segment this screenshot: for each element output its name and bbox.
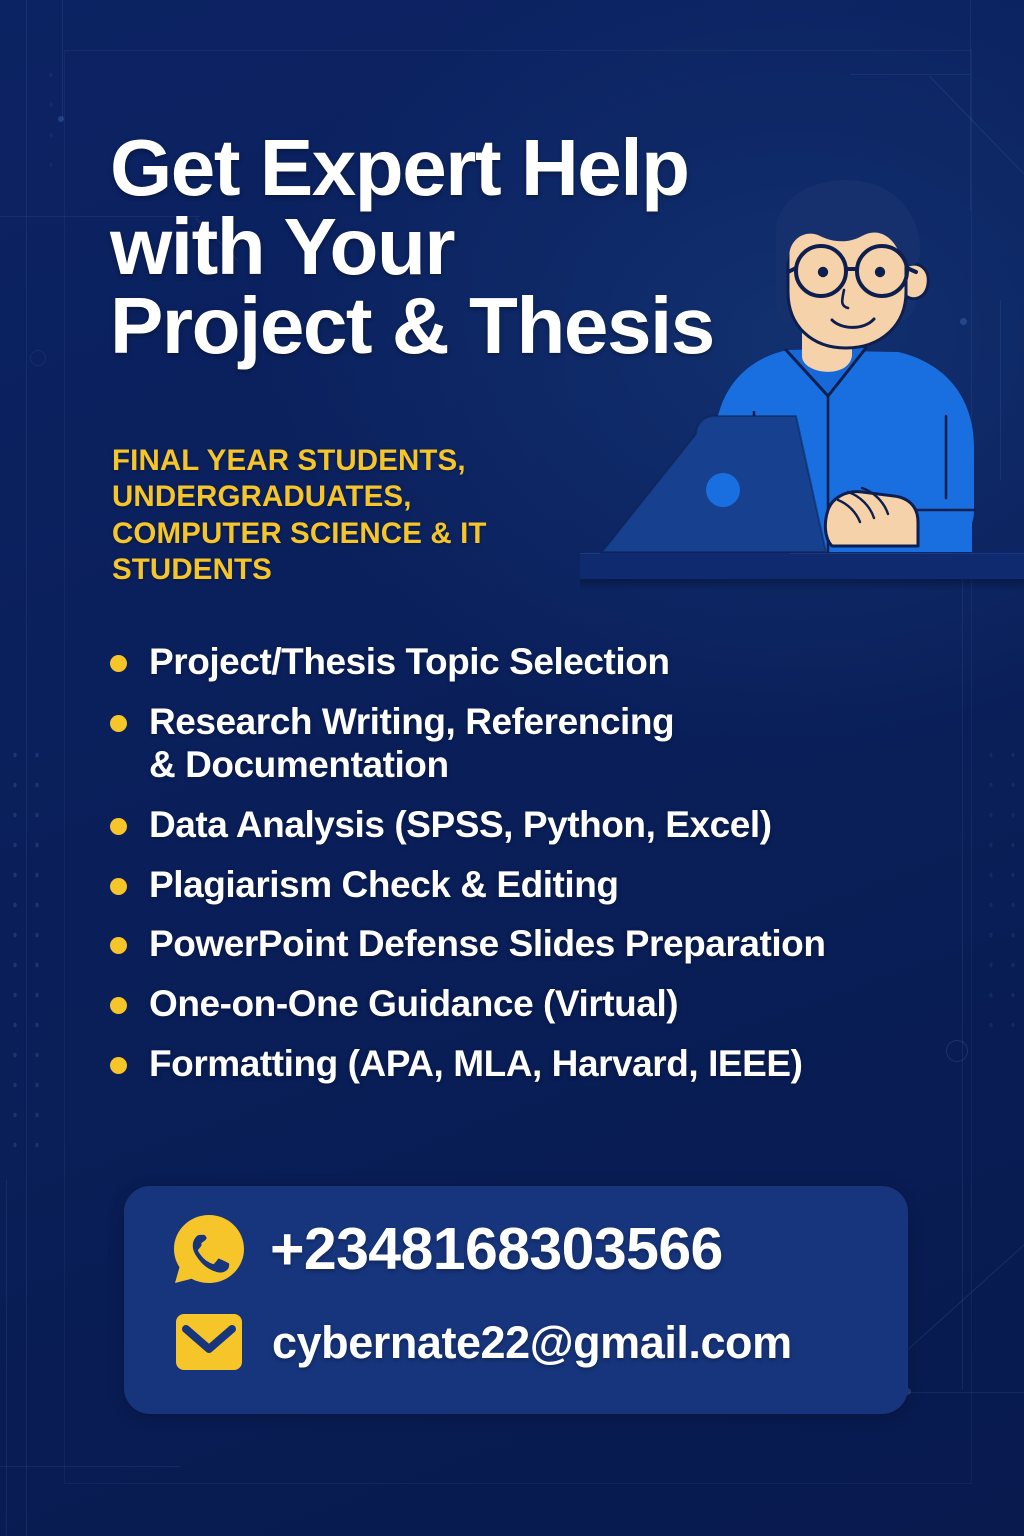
circuit-vline-bottomleft: [6, 1180, 7, 1536]
service-label: PowerPoint Defense Slides Preparation: [149, 922, 826, 966]
email-address[interactable]: cybernate22@gmail.com: [272, 1320, 792, 1365]
service-label: Formatting (APA, MLA, Harvard, IEEE): [149, 1042, 803, 1086]
bullet-dot-icon: [110, 997, 127, 1014]
circuit-vline-left2: [62, 0, 63, 120]
list-item: Research Writing, Referencing & Document…: [110, 700, 955, 787]
list-item: Project/Thesis Topic Selection: [110, 640, 955, 684]
bullet-dot-icon: [110, 655, 127, 672]
circuit-vline-left: [26, 0, 27, 1536]
service-label: Research Writing, Referencing & Document…: [149, 700, 674, 787]
services-list: Project/Thesis Topic Selection Research …: [110, 640, 955, 1101]
service-label: Plagiarism Check & Editing: [149, 863, 619, 907]
list-item: Data Analysis (SPSS, Python, Excel): [110, 803, 955, 847]
phone-number[interactable]: +2348168303566: [270, 1220, 723, 1279]
list-item: Plagiarism Check & Editing: [110, 863, 955, 907]
contact-card: +2348168303566 cybernate22@gmail.com: [124, 1186, 908, 1414]
circuit-trace-diagonal-tr: [929, 76, 1024, 192]
circuit-ring-left: [30, 350, 46, 366]
page-title: Get Expert Help with Your Project & Thes…: [110, 128, 800, 366]
dot-grid-left: [4, 740, 52, 1170]
whatsapp-icon[interactable]: [172, 1212, 246, 1286]
envelope-icon[interactable]: [174, 1312, 244, 1372]
list-item: Formatting (APA, MLA, Harvard, IEEE): [110, 1042, 955, 1086]
subtitle-line-2: UNDERGRADUATES,: [112, 479, 632, 515]
list-item: PowerPoint Defense Slides Preparation: [110, 922, 955, 966]
bullet-dot-icon: [110, 878, 127, 895]
circuit-hline-bottomleft: [0, 1466, 180, 1467]
dot-grid-right: [980, 740, 1024, 1040]
circuit-hline-topright: [850, 74, 970, 75]
target-audience-subtitle: FINAL YEAR STUDENTS, UNDERGRADUATES, COM…: [112, 443, 632, 588]
email-contact-row[interactable]: cybernate22@gmail.com: [172, 1312, 792, 1372]
headline-line-2: with Your: [110, 207, 800, 286]
list-item: One-on-One Guidance (Virtual): [110, 982, 955, 1026]
bullet-dot-icon: [110, 715, 127, 732]
headline-line-1: Get Expert Help: [110, 128, 800, 207]
circuit-node-topleft: [58, 116, 64, 122]
service-label: One-on-One Guidance (Virtual): [149, 982, 678, 1026]
dot-grid-topleft: [40, 60, 70, 180]
headline-line-3: Project & Thesis: [110, 286, 800, 365]
subtitle-line-1: FINAL YEAR STUDENTS,: [112, 443, 632, 479]
bullet-dot-icon: [110, 1057, 127, 1074]
whatsapp-contact-row[interactable]: +2348168303566: [172, 1212, 723, 1286]
subtitle-line-3: COMPUTER SCIENCE & IT: [112, 516, 632, 552]
bullet-dot-icon: [110, 937, 127, 954]
promotional-flyer: Get Expert Help with Your Project & Thes…: [0, 0, 1024, 1536]
circuit-vline-right: [962, 560, 963, 1390]
desk-shadow: [580, 579, 1024, 591]
bullet-dot-icon: [110, 818, 127, 835]
circuit-hline-bottomright: [900, 1392, 1024, 1393]
service-label: Data Analysis (SPSS, Python, Excel): [149, 803, 772, 847]
service-label: Project/Thesis Topic Selection: [149, 640, 670, 684]
circuit-vline-topright: [970, 0, 971, 210]
subtitle-line-4: STUDENTS: [112, 552, 632, 588]
